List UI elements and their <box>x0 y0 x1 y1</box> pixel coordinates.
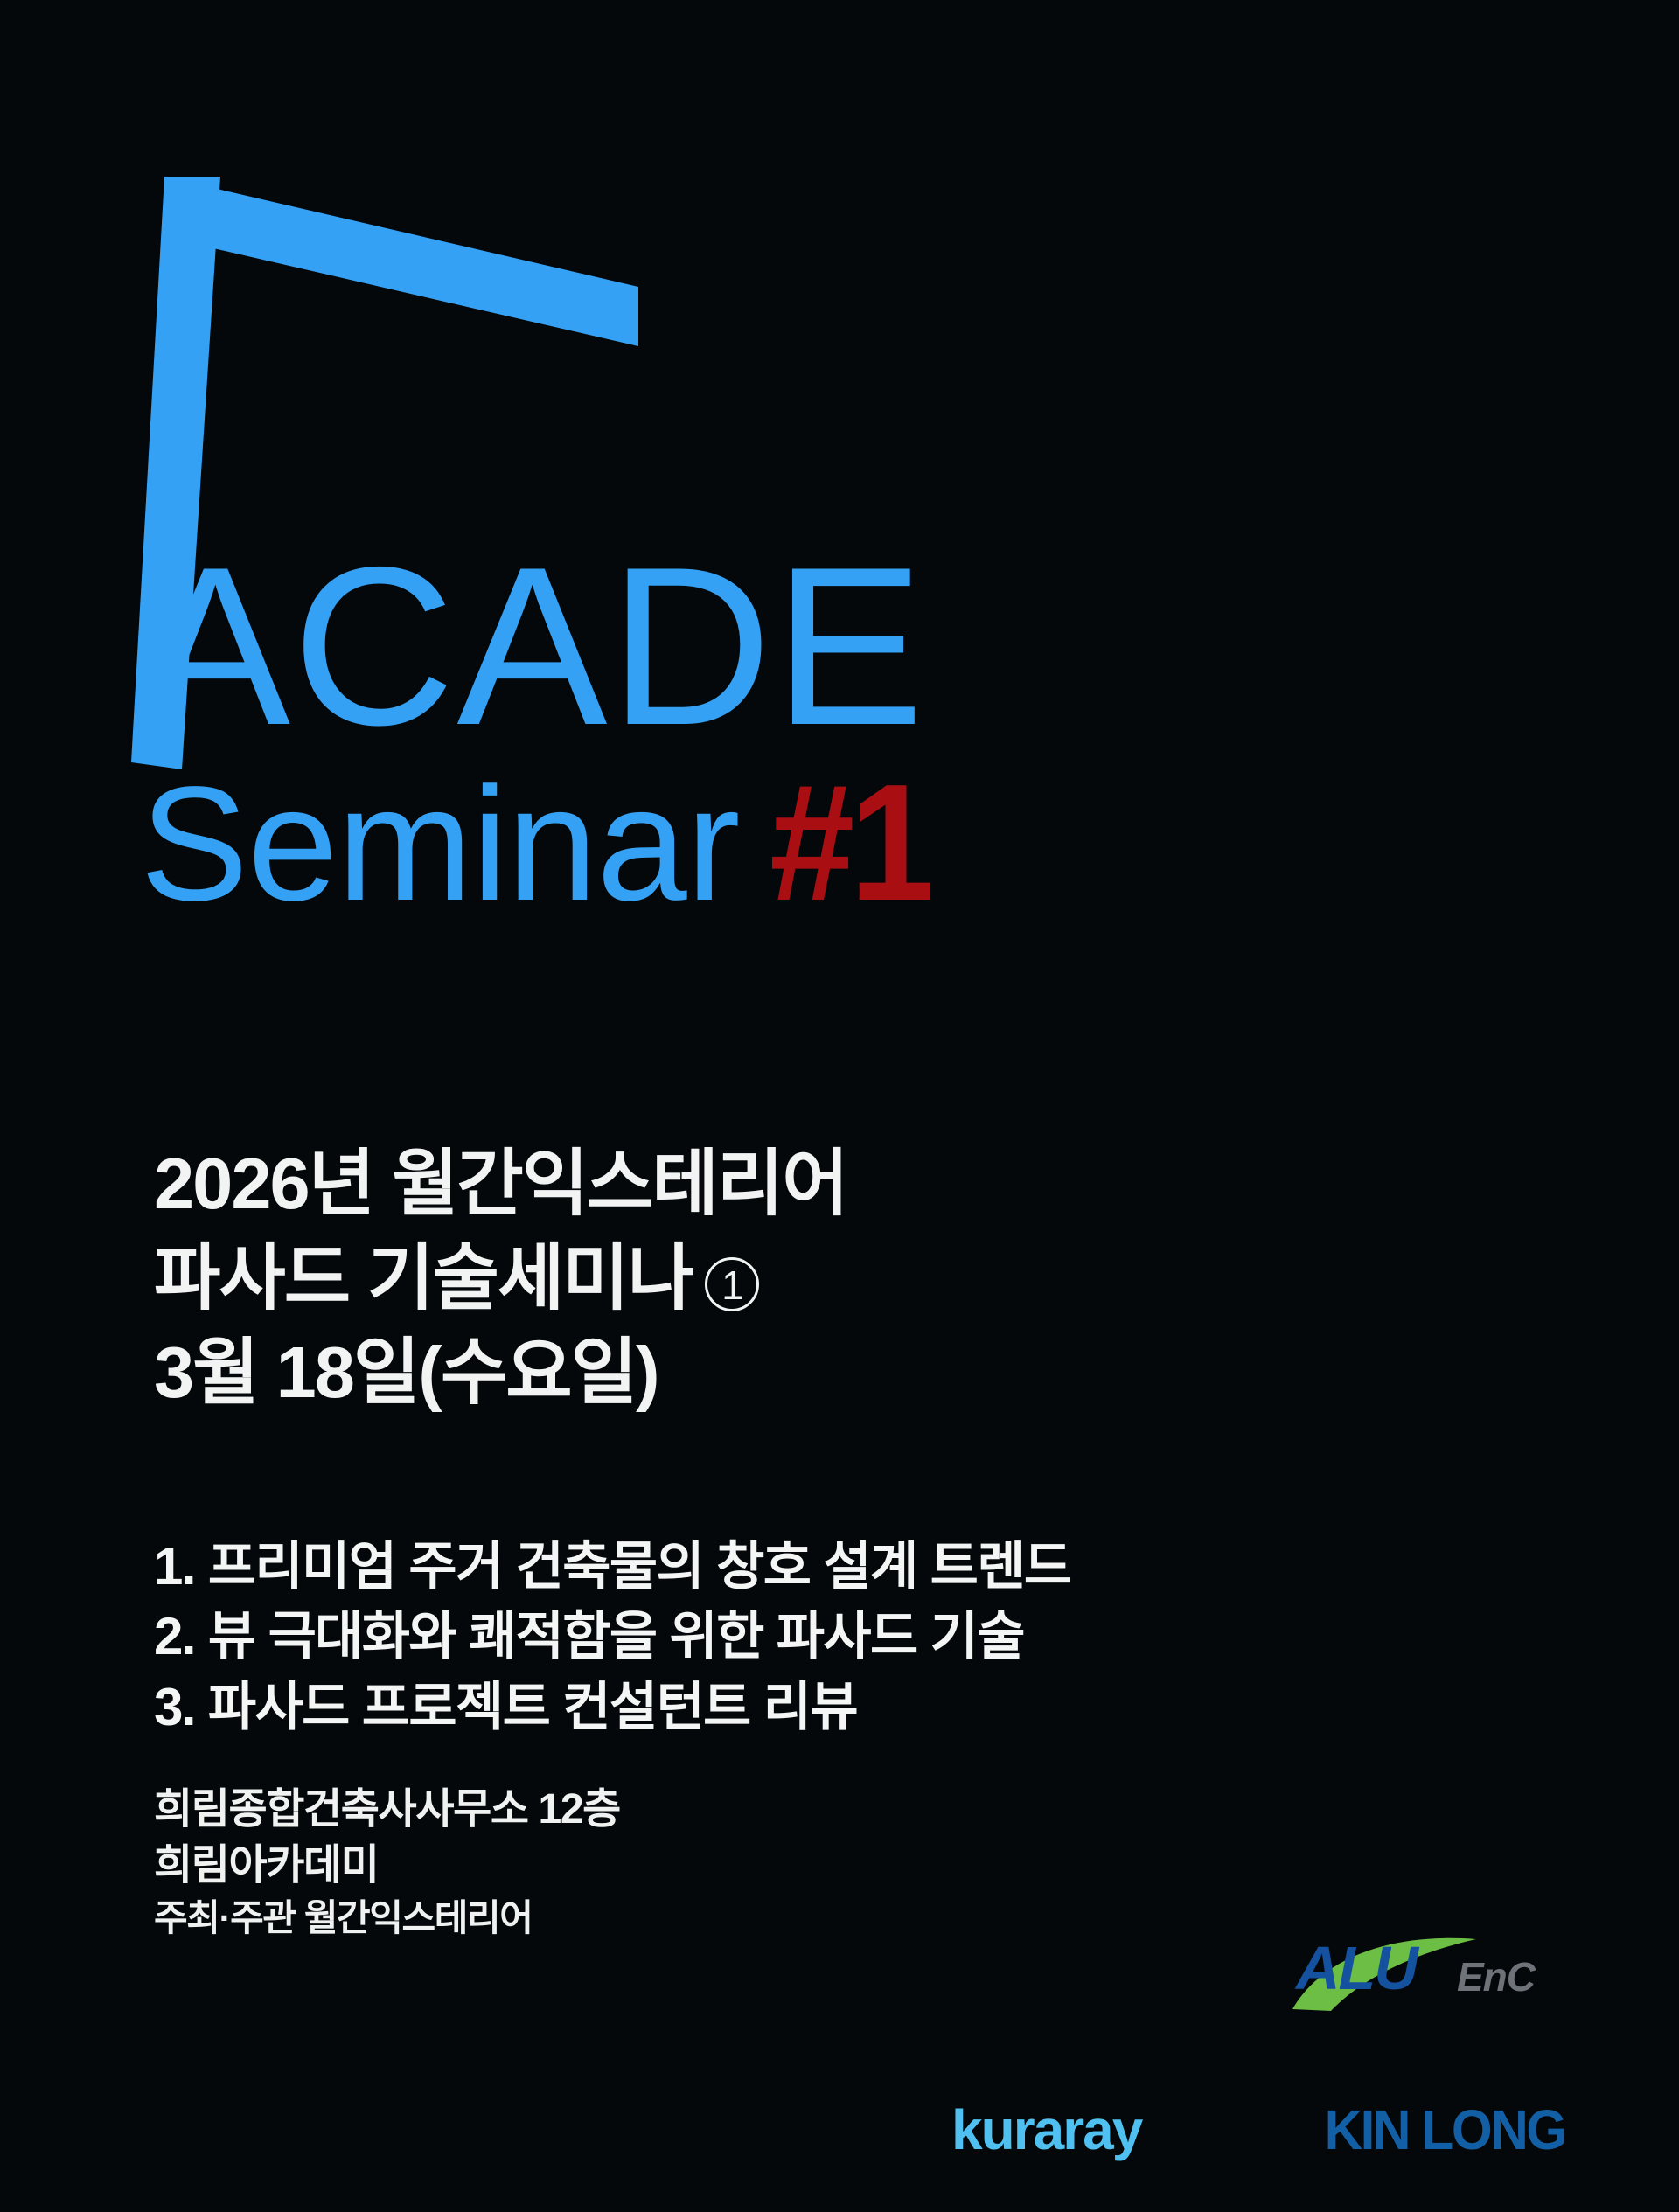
seminar-poster: ACADE Seminar#1 2026년 월간익스테리어 파사드 기술세미나1… <box>0 0 1679 2212</box>
kuraray-logo: kuraray <box>951 2102 1141 2158</box>
venue-name: 희림아카데미 <box>154 1838 1116 1894</box>
headline-line-2: 파사드 기술세미나1 <box>154 1231 1466 1325</box>
agenda-list: 1. 프리미엄 주거 건축물의 창호 설계 트렌드 2. 뷰 극대화와 쾌적함을… <box>154 1532 1466 1742</box>
headline-line-2-text: 파사드 기술세미나 <box>154 1237 693 1318</box>
hero-issue-number: #1 <box>770 760 930 926</box>
agenda-item-2: 2. 뷰 극대화와 쾌적함을 위한 파사드 기술 <box>154 1602 1466 1672</box>
agenda-item-3: 3. 파사드 프로젝트 컨설턴트 리뷰 <box>154 1673 1466 1742</box>
venue-address: 희림종합건축사사무소 12층 <box>154 1782 1116 1838</box>
sponsor-logos: ALU EnC kuraray KIN LONG <box>936 1925 1565 2188</box>
venue-block: 희림종합건축사사무소 12층 희림아카데미 주최·주관 월간익스테리어 <box>154 1782 1116 1943</box>
hero-seminar-row: Seminar#1 <box>140 760 1504 926</box>
aluenc-secondary-text: EnC <box>1457 1957 1535 1997</box>
hero-acade-text: ACADE <box>140 538 1504 755</box>
hero-wordmark: ACADE Seminar#1 <box>140 538 1504 926</box>
headline-block: 2026년 월간익스테리어 파사드 기술세미나1 3월 18일(수요일) <box>154 1137 1466 1420</box>
hero-seminar-text: Seminar <box>140 754 740 935</box>
aluenc-logo: ALU EnC <box>1291 1925 1553 2021</box>
headline-line-1: 2026년 월간익스테리어 <box>154 1137 1466 1231</box>
aluenc-primary-text: ALU <box>1296 1937 1417 1999</box>
agenda-item-1: 1. 프리미엄 주거 건축물의 창호 설계 트렌드 <box>154 1532 1466 1602</box>
kinlong-logo: KIN LONG <box>1325 2102 1565 2158</box>
headline-line-3: 3월 18일(수요일) <box>154 1325 1466 1420</box>
circled-one-badge: 1 <box>705 1257 759 1311</box>
